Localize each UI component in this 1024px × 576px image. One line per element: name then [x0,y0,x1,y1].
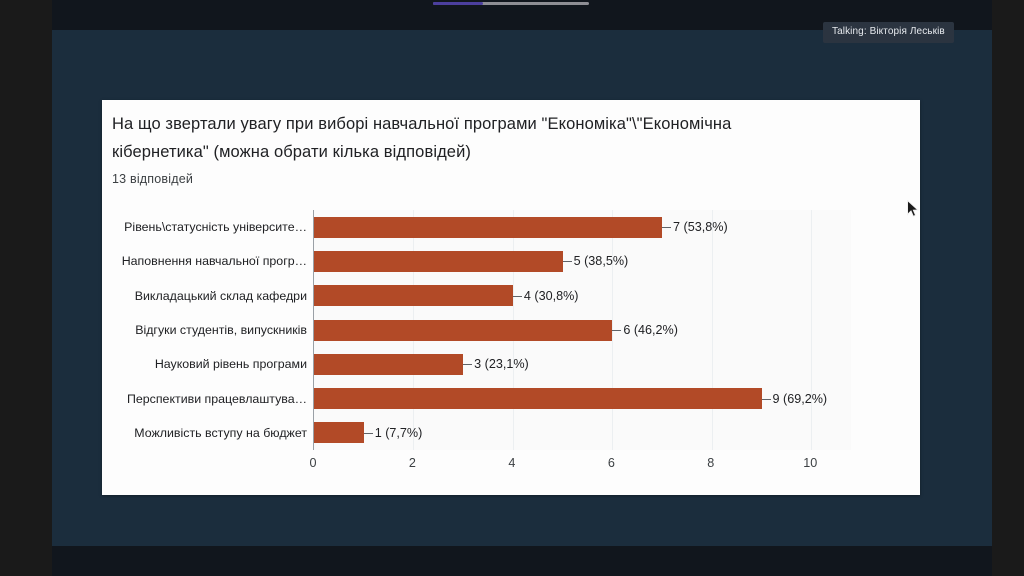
bar-chart: Рівень\статусність університе…Наповнення… [102,210,920,475]
category-axis: Рівень\статусність університе…Наповнення… [102,210,313,450]
bar[interactable] [314,388,762,409]
bar[interactable] [314,251,563,272]
gridline [712,210,713,450]
chart-title: На що звертали увагу при виборі навчальн… [112,110,812,166]
category-label: Відгуки студентів, випускників [135,323,307,337]
slide-stage: На що звертали увагу при виборі навчальн… [52,30,992,546]
seek-bar-fill [433,2,483,5]
gridline [811,210,812,450]
video-player-frame: На що звертали увагу при виборі навчальн… [52,0,992,576]
talking-indicator-badge: Talking: Вікторія Леськів [823,22,954,43]
chart-subtitle: 13 відповідей [112,172,193,186]
bar-value-label: 7 (53,8%) [673,220,728,234]
plot-area: 7 (53,8%)5 (38,5%)4 (30,8%)6 (46,2%)3 (2… [313,210,851,450]
x-tick-label: 10 [803,456,817,470]
value-leader-line [513,296,522,297]
category-label: Викладацький склад кафедри [135,289,307,303]
bar-value-label: 6 (46,2%) [623,323,678,337]
slide-card: На що звертали увагу при виборі навчальн… [102,100,920,495]
value-leader-line [662,227,671,228]
category-label: Науковий рівень програми [155,357,307,371]
x-tick-label: 6 [608,456,615,470]
bar[interactable] [314,320,612,341]
bar[interactable] [314,354,463,375]
bar[interactable] [314,422,364,443]
x-tick-label: 8 [707,456,714,470]
bar-value-label: 9 (69,2%) [773,392,828,406]
seek-bar[interactable] [433,2,589,5]
bar[interactable] [314,285,513,306]
value-leader-line [364,433,373,434]
category-label: Наповнення навчальної прогр… [122,254,307,268]
value-axis: 0246810 [313,450,850,474]
value-leader-line [463,364,472,365]
category-label: Рівень\статусність університе… [124,220,307,234]
value-leader-line [612,330,621,331]
bar-value-label: 4 (30,8%) [524,289,579,303]
bar-value-label: 5 (38,5%) [574,254,629,268]
value-leader-line [563,261,572,262]
player-bottom-bar [52,546,992,576]
screen: На що звертали увагу при виборі навчальн… [0,0,1024,576]
category-label: Перспективи працевлаштува… [127,392,307,406]
bar[interactable] [314,217,662,238]
x-tick-label: 0 [309,456,316,470]
x-tick-label: 4 [508,456,515,470]
value-leader-line [762,399,771,400]
x-tick-label: 2 [409,456,416,470]
bar-value-label: 3 (23,1%) [474,357,529,371]
bar-value-label: 1 (7,7%) [375,426,423,440]
category-label: Можливість вступу на бюджет [134,426,307,440]
